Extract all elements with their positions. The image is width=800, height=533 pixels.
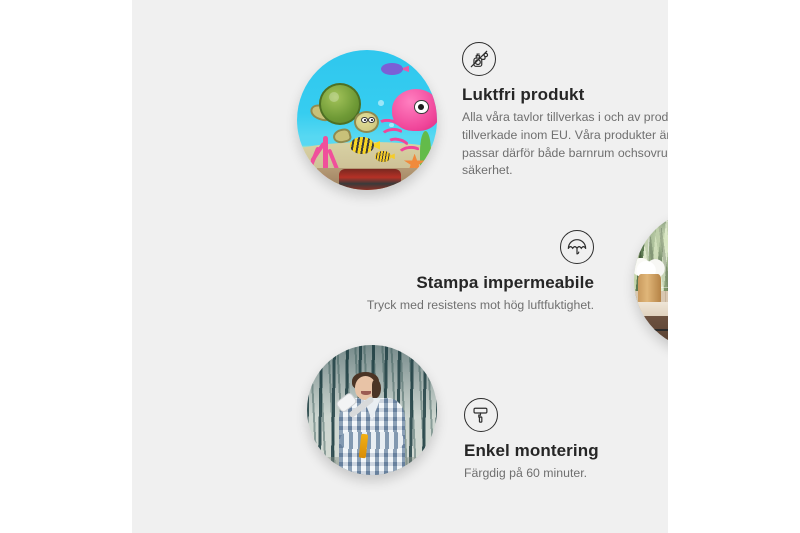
- fish-body: [375, 151, 390, 162]
- wooden-vanity-cabinet: [637, 316, 668, 350]
- feature-block-odourless: Luktfri produkt Alla våra tavlor tillver…: [462, 42, 668, 180]
- fish-illustration: [350, 137, 374, 154]
- octopus-eye: [414, 100, 428, 114]
- feature-block-easy-assembly: Enkel montering Färgdig på 60 minuter.: [464, 398, 668, 483]
- fish-body: [350, 137, 374, 154]
- woman-with-paint-roller-forest-circle-photo: [307, 345, 437, 475]
- underwater-cartoon-circle-photo: [297, 50, 437, 190]
- screenshot-stage: Luktfri produkt Alla våra tavlor tillver…: [0, 0, 800, 533]
- turtle-eye: [368, 117, 375, 123]
- feature-title: Stampa impermeabile: [312, 273, 594, 293]
- seaweed-illustration: [420, 131, 431, 173]
- umbrella-icon: [560, 230, 594, 264]
- paint-roller-icon: [464, 398, 498, 432]
- feature-title: Luktfri produkt: [462, 85, 668, 105]
- hair: [372, 380, 381, 398]
- feature-description: Alla våra tavlor tillverkas i och av pro…: [462, 109, 668, 180]
- octopus-arm: [380, 127, 405, 137]
- fish-body: [381, 63, 403, 76]
- bathroom-botanical-wallpaper-circle-photo: [634, 210, 668, 350]
- turtle-eye: [361, 117, 368, 123]
- woman-figure: [336, 374, 409, 475]
- feature-block-waterproof: Stampa impermeabile Tryck med resistens …: [312, 230, 594, 315]
- feature-icon-wrap: [462, 42, 668, 76]
- sea-wreck: [339, 169, 401, 190]
- feature-description: Färgdig på 60 minuter.: [464, 465, 668, 483]
- feature-panel: Luktfri produkt Alla våra tavlor tillver…: [132, 0, 668, 533]
- feature-description: Tryck med resistens mot hög luftfuktighe…: [312, 297, 594, 315]
- fish-illustration: [375, 151, 390, 162]
- no-fragrance-icon: [462, 42, 496, 76]
- feature-icon-wrap: [464, 398, 668, 432]
- octopus-head: [392, 89, 437, 131]
- turtle-illustration: [314, 78, 378, 137]
- crossed-arms: [340, 432, 404, 448]
- feature-title: Enkel montering: [464, 441, 668, 461]
- turtle-head: [354, 111, 380, 133]
- smile: [361, 391, 370, 395]
- fish-illustration: [381, 63, 403, 76]
- feature-icon-wrap: [312, 230, 594, 264]
